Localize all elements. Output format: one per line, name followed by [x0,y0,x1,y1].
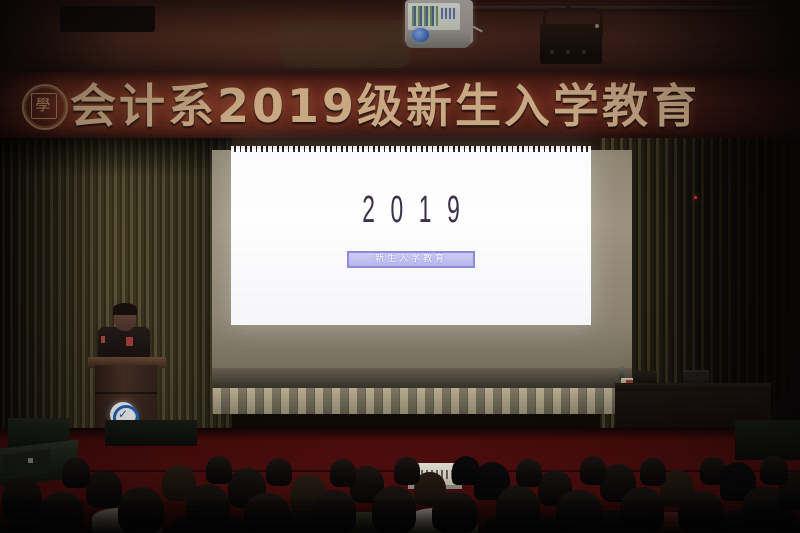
laptop-screen [685,372,707,380]
ceiling-shadow-right [630,0,800,76]
audience-foreground-shadow [0,500,800,533]
audience-head [394,457,420,485]
slide-year-text: 2019 [303,188,519,232]
ceiling-vent [280,20,410,68]
projector-panel-detail-2 [441,8,457,19]
av-table-top [615,383,771,391]
banner-title: 会计系2019级新生入学教育 [70,76,800,136]
projection-screen [231,149,591,325]
stage-light-front [540,52,602,64]
audience-head [640,458,666,486]
presenter-torso [98,327,150,361]
projection-top-edge [231,146,591,152]
pa-speaker-left [105,420,197,446]
led-indicator [694,196,697,199]
stage-light-bolt [582,50,586,54]
slide-subtitle-text: 新生入学教育 [349,253,473,266]
audience-head [330,459,356,487]
audience-head [516,459,542,487]
podium-seam [95,392,157,394]
audience-head [206,456,232,484]
audience-head [760,456,788,485]
stage-light-bolt [566,50,570,54]
pa-speaker-right [735,420,800,460]
projector-lens-icon [412,28,429,42]
presenter-hair [113,303,137,315]
ceiling-shadow-left [0,0,120,76]
auditorium-scene: 學 会计系2019级新生入学教育 2019 新生入学教育 ✓ [0,0,800,533]
stage-light-glint [595,24,599,28]
slide-subtitle-banner: 新生入学教育 [347,251,475,268]
curtain-valance [212,388,632,414]
projector-panel-detail [412,6,438,26]
audience-head [266,458,292,486]
audience-head [62,458,90,488]
presenter-badge [126,337,133,346]
presenter-badge-secondary [101,336,105,343]
stage-curtain-left-shadow [0,138,232,178]
stage-light-bolt [550,50,554,54]
audience-head [700,457,726,485]
university-seal-glyph: 學 [33,94,53,116]
audience-head [452,456,480,485]
audience-head [580,456,606,485]
